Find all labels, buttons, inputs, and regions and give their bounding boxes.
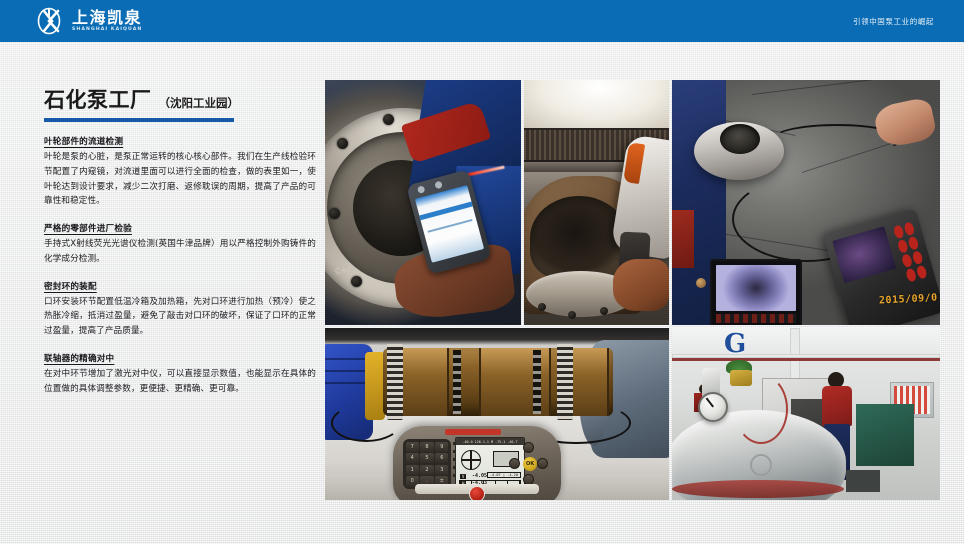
tool-brand-strip <box>445 429 501 435</box>
nav-left-button[interactable] <box>509 458 520 469</box>
laser-alignment-tool: 7 8 9 4 5 6 1 2 3 0 . ± -40.0 12 <box>393 426 561 500</box>
workshop-window <box>524 80 669 132</box>
kaiquan-logo-mark-icon <box>36 6 66 36</box>
slide-root: 上海凯泉 SHANGHAI KAIQUAN 引领中国泵工业的崛起 石化泵工厂 （… <box>0 0 964 544</box>
vessel-red-band <box>672 480 844 498</box>
section-body: 口环安装环节配置低温冷箱及加热箱，先对口环进行加热（预冷）使之热胀冷缩，抵消过盈… <box>44 295 316 339</box>
device-screen <box>415 185 484 263</box>
sleeve-button <box>696 278 706 288</box>
gun-orange-accent <box>623 142 645 184</box>
page-subtitle: （沈阳工业园） <box>159 95 240 111</box>
worker-sleeve-cuff <box>672 210 694 268</box>
section-body: 叶轮是泵的心脏，是泵正常运转的核心核心部件。我们在生产线检验环节配置了内窥镜，对… <box>44 150 316 209</box>
shaft-bolt-strip <box>533 350 541 414</box>
page-title: 石化泵工厂 <box>44 84 152 114</box>
operator-hand <box>613 259 669 311</box>
title-underline-rule <box>44 118 234 122</box>
section-heading: 密封环的装配 <box>44 280 316 292</box>
keypad-key[interactable]: 4 <box>406 453 419 463</box>
casing-bolt-hole <box>600 307 608 315</box>
pressure-gauge <box>698 392 728 422</box>
lifting-ring <box>750 454 772 476</box>
page-header: 上海凯泉 SHANGHAI KAIQUAN 引领中国泵工业的崛起 <box>0 0 964 42</box>
section-heading: 严格的零部件进厂检验 <box>44 222 316 234</box>
brand-name-cn: 上海凯泉 <box>72 10 142 26</box>
shaft-bolt-strip <box>453 350 461 414</box>
ok-button[interactable]: OK <box>523 457 537 471</box>
photo-impeller-flange-inspection: C+/ <box>325 80 521 325</box>
tool-navigation-pad[interactable]: OK <box>509 440 549 488</box>
nav-right-button[interactable] <box>537 458 548 469</box>
keypad-key[interactable]: 6 <box>435 453 448 463</box>
screen-text-line <box>428 219 473 233</box>
keypad-key[interactable]: 2 <box>420 465 433 475</box>
brand-logo[interactable]: 上海凯泉 SHANGHAI KAIQUAN <box>36 6 142 36</box>
keypad-key[interactable]: 9 <box>435 442 448 452</box>
pressure-hose <box>734 374 788 444</box>
photo-laser-shaft-alignment: 7 8 9 4 5 6 1 2 3 0 . ± -40.0 12 <box>325 328 669 500</box>
photo-pressure-test-workshop: G <box>672 328 940 500</box>
flange-bolt-hole <box>383 114 394 125</box>
header-slogan: 引领中国泵工业的崛起 <box>853 0 934 42</box>
keypad-key[interactable]: 3 <box>435 465 448 475</box>
flange-bolt-hole <box>337 138 348 149</box>
section-heading: 叶轮部件的流道检测 <box>44 135 316 147</box>
brand-name-en: SHANGHAI KAIQUAN <box>72 28 142 33</box>
impeller-hub <box>720 124 760 154</box>
flow-channel-image <box>716 265 796 311</box>
floor-crate <box>846 470 880 492</box>
axis-label-v: V <box>460 474 466 479</box>
device-button <box>417 185 426 194</box>
green-partition-panel <box>856 404 914 466</box>
gauge-needle <box>706 398 714 408</box>
section-parts-incoming-check: 严格的零部件进厂检验 手持式X射线荧光光谱仪检测(英国牛津品牌）用以严格控制外购… <box>44 222 316 267</box>
section-coupling-alignment: 联轴器的精确对中 在对中环节增加了激光对中仪，可以直接显示数值，也能显示在具体的… <box>44 352 316 397</box>
casing-bolt-hole <box>538 303 546 311</box>
keypad-key[interactable]: 7 <box>406 442 419 452</box>
endoscope-screen <box>832 226 896 283</box>
power-button[interactable] <box>469 486 485 500</box>
section-heading: 联轴器的精确对中 <box>44 352 316 364</box>
section-impeller-inspection: 叶轮部件的流道检测 叶轮是泵的心脏，是泵正常运转的核心核心部件。我们在生产线检验… <box>44 135 316 209</box>
photo-xrf-spectrometer-check <box>524 80 669 325</box>
flange-bolt-hole <box>351 276 362 287</box>
photo-endoscope-flow-channel-inspection: 2015/09/0 <box>672 80 940 325</box>
keypad-key[interactable]: 5 <box>420 453 433 463</box>
keypad-key[interactable]: 1 <box>406 465 419 475</box>
endoscope-inset-view <box>710 259 802 325</box>
nav-up-button[interactable] <box>523 442 534 453</box>
section-seal-ring-assembly: 密封环的装配 口环安装环节配置低温冷箱及加热箱，先对口环进行加热（预冷）使之热胀… <box>44 280 316 339</box>
section-body: 在对中环节增加了激光对中仪，可以直接显示数值，也能显示在具体的位置做的具体调整参… <box>44 367 316 397</box>
device-button <box>434 181 443 190</box>
text-column: 石化泵工厂 （沈阳工业园） 叶轮部件的流道检测 叶轮是泵的心脏，是泵正常运转的核… <box>44 84 316 397</box>
sensor-cable <box>331 404 401 442</box>
alignment-crosshair-icon <box>461 450 481 470</box>
display-value-v: -4.05 <box>472 473 487 479</box>
inset-keypad <box>716 314 796 323</box>
screen-header-bar <box>419 202 472 221</box>
title-row: 石化泵工厂 （沈阳工业园） <box>44 84 316 114</box>
background-wall <box>325 328 669 340</box>
flange-bolt-hole <box>329 208 340 219</box>
tool-keypad[interactable]: 7 8 9 4 5 6 1 2 3 0 . ± <box>403 439 451 489</box>
section-body: 手持式X射线荧光光谱仪检测(英国牛津品牌）用以严格控制外购铸件的化学成分检测。 <box>44 237 316 267</box>
overhead-red-pipe <box>672 358 940 361</box>
keypad-key[interactable]: 8 <box>420 442 433 452</box>
photo-grid: C+/ <box>325 80 940 500</box>
casing-bolt-hole <box>568 311 576 319</box>
bay-sign-letter: G <box>724 329 746 359</box>
